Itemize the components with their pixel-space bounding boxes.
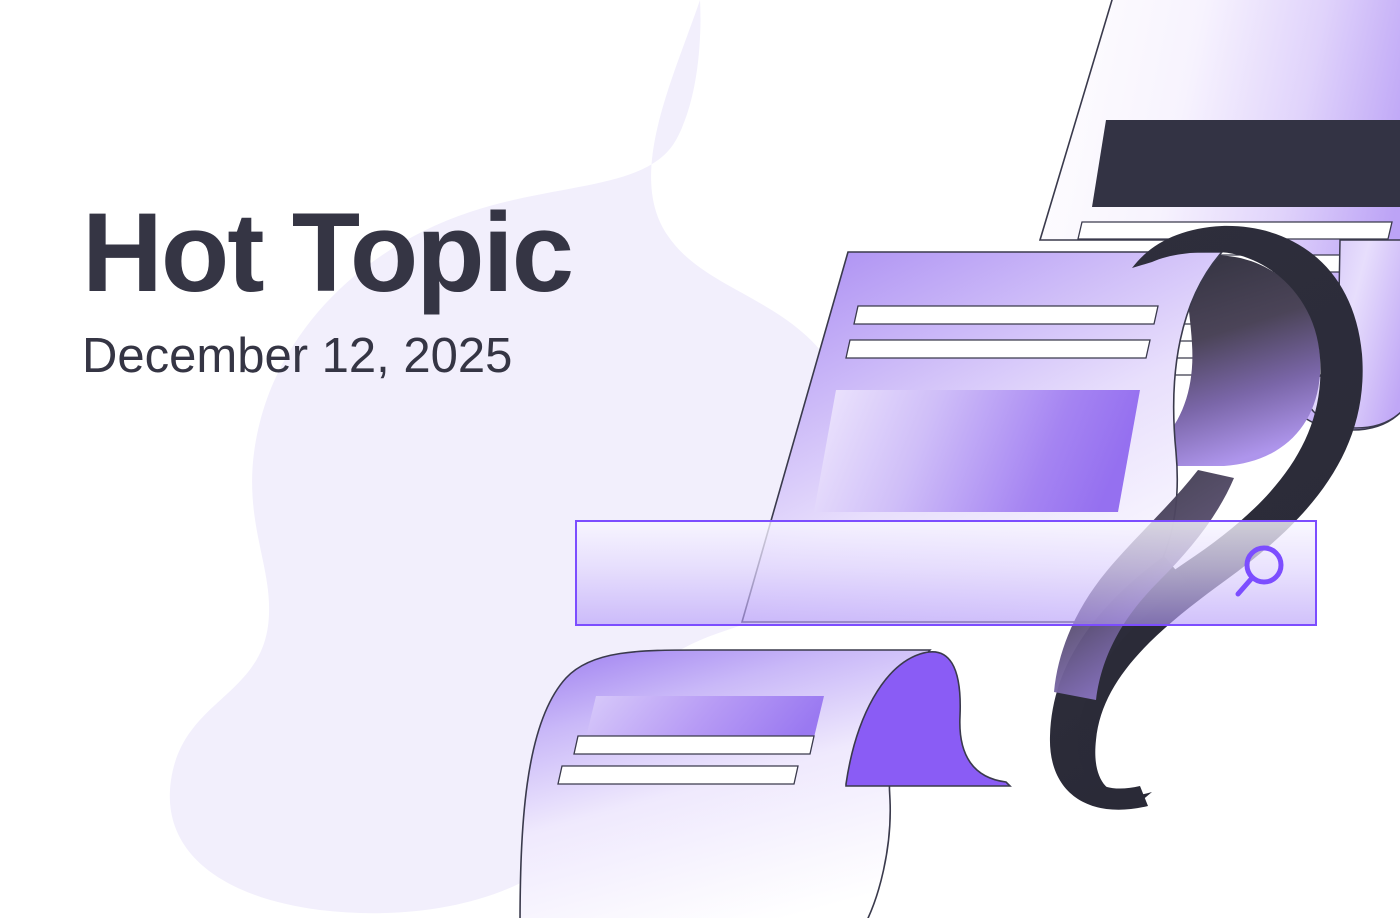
hero-banner: Hot Topic December 12, 2025 bbox=[0, 0, 1400, 918]
newspaper-bottom bbox=[520, 650, 1010, 918]
newspaper-top-right-headline-block bbox=[1092, 120, 1400, 207]
search-icon[interactable] bbox=[1227, 541, 1291, 605]
hero-text: Hot Topic December 12, 2025 bbox=[82, 196, 572, 381]
page-title: Hot Topic bbox=[82, 196, 572, 310]
search-bar[interactable] bbox=[575, 520, 1317, 626]
newspaper-stack-illustration bbox=[0, 0, 1400, 918]
search-input[interactable] bbox=[577, 522, 1217, 624]
page-date: December 12, 2025 bbox=[82, 310, 572, 381]
newspaper-middle-image-block bbox=[814, 390, 1140, 512]
